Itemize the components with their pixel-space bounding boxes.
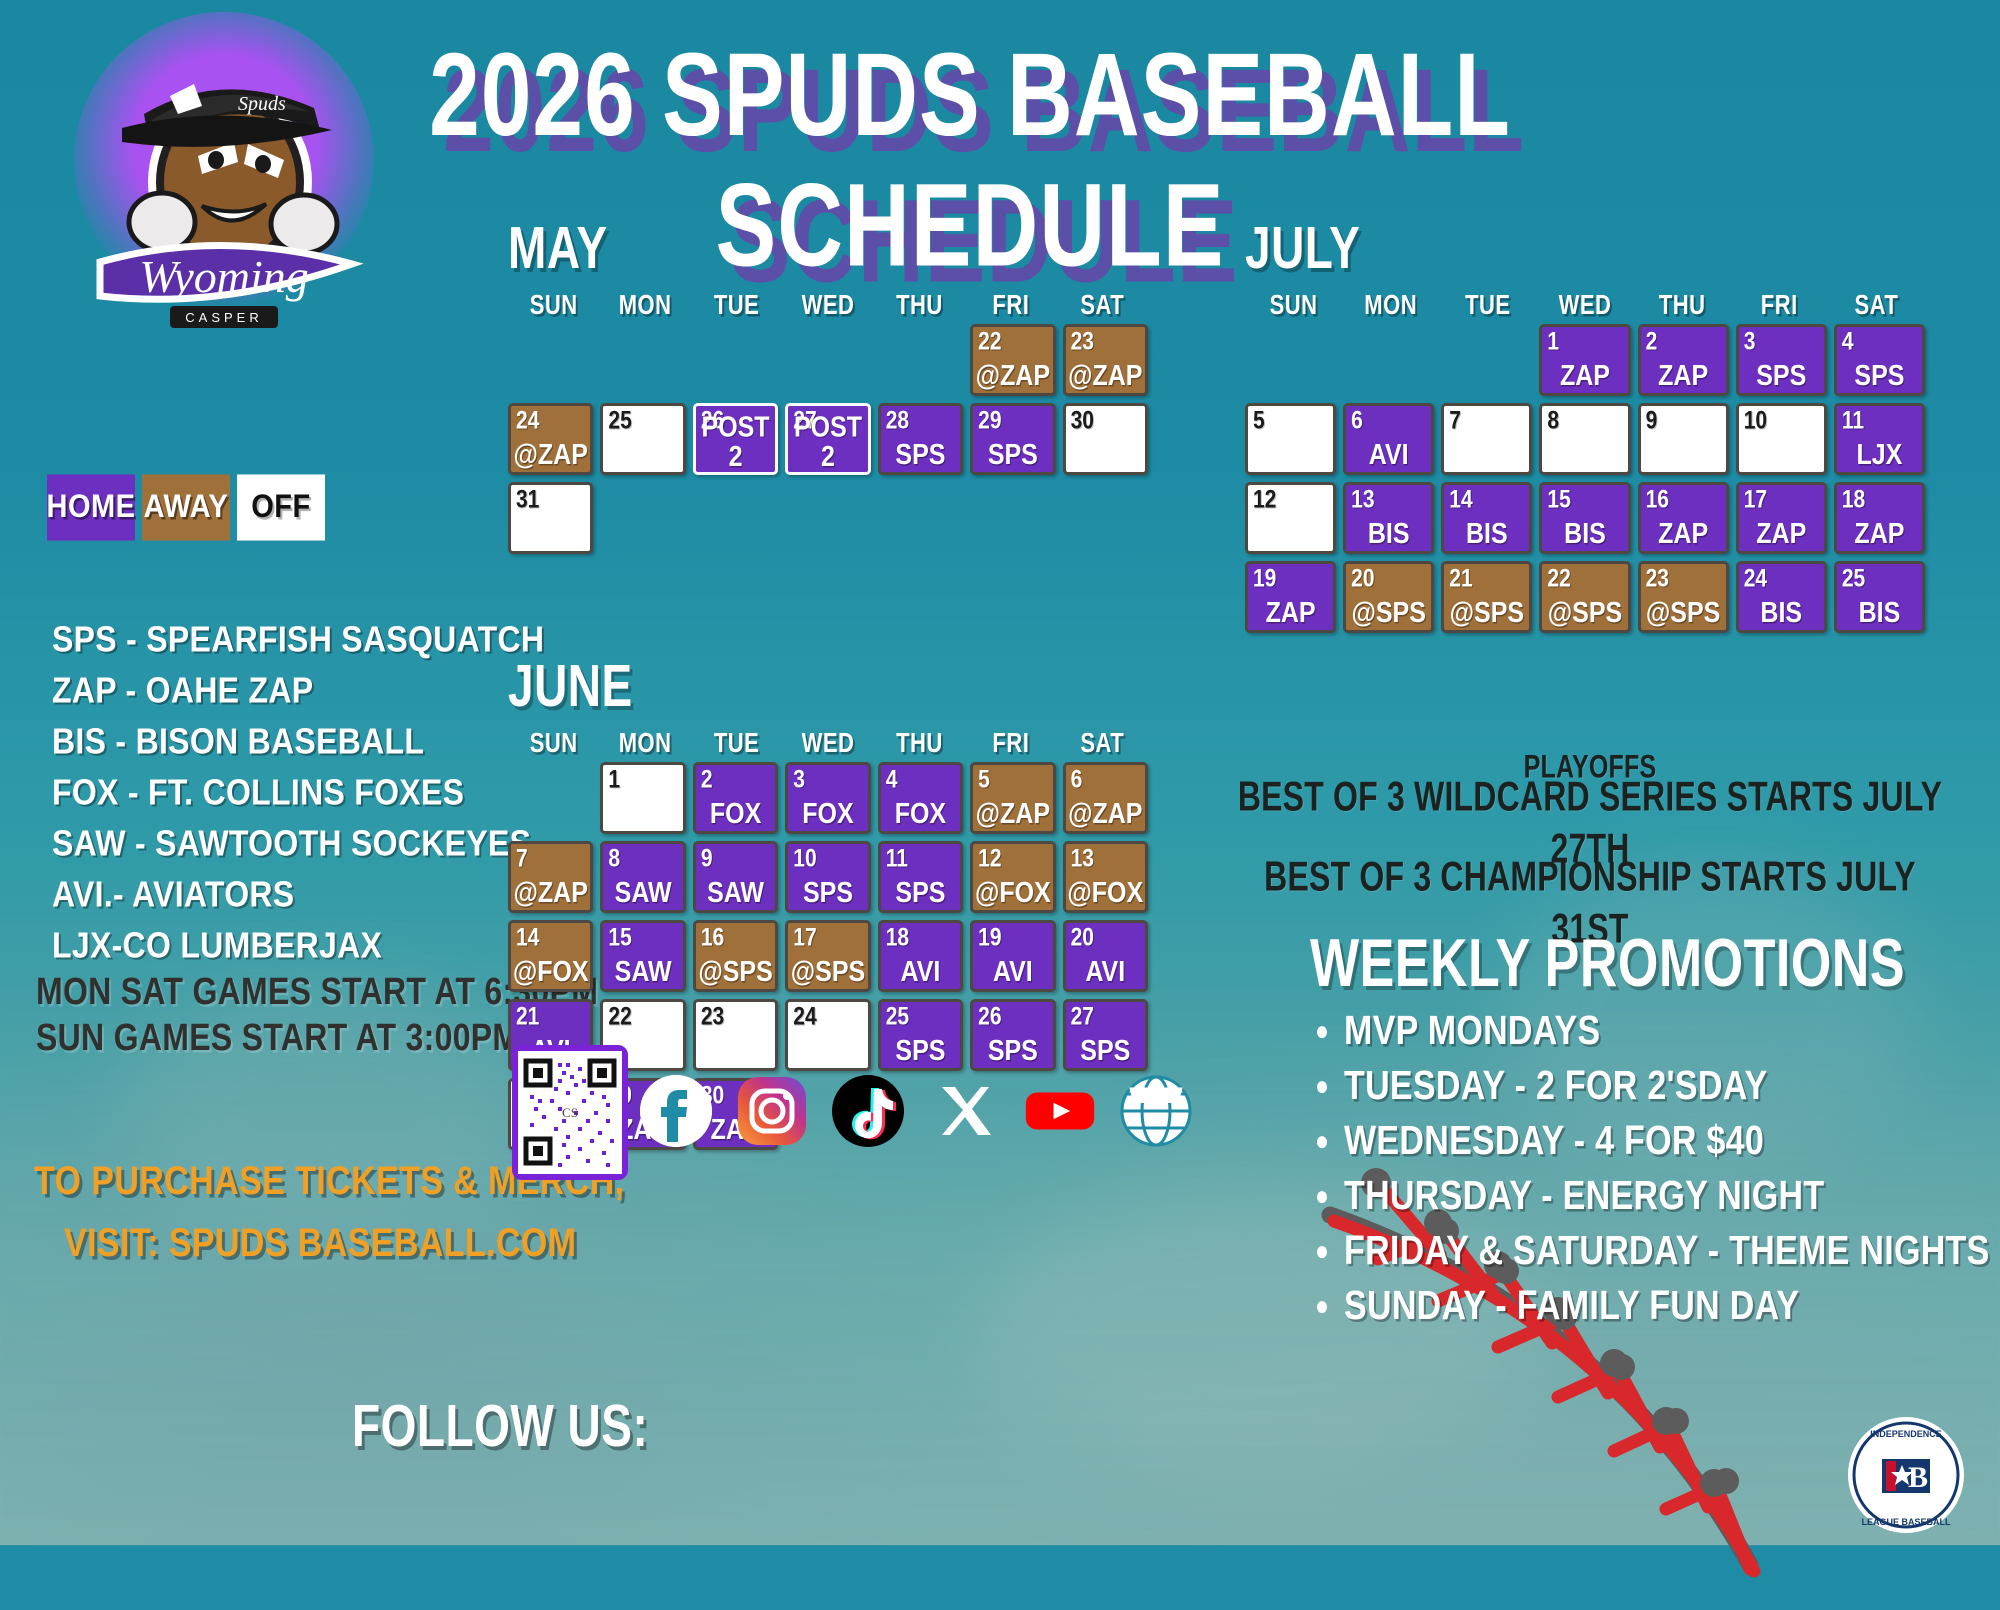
opponent-label: SPS [788, 878, 867, 908]
opponent-label: @SPS [1542, 598, 1627, 628]
calendar-day-cell[interactable]: 18AVI [878, 920, 963, 992]
day-number: 6 [1071, 767, 1083, 793]
svg-text:WWW: WWW [1132, 1086, 1181, 1105]
calendar-week-row: 31 [508, 482, 1148, 554]
independence-league-badge: INDEPENDENCE LEAGUE BASEBALL B [1846, 1415, 1966, 1535]
opponent-label: BIS [1346, 519, 1431, 549]
dow-tue: TUE [691, 727, 782, 760]
abbr-item: ZAP - OAHE ZAP [52, 662, 482, 719]
legend-key-home: HOME [47, 474, 135, 540]
dow-fri: FRI [1731, 289, 1828, 322]
calendar-day-cell[interactable]: 2ZAP [1638, 324, 1729, 396]
dow-sat: SAT [1057, 727, 1148, 760]
opponent-label: POST 2 [696, 412, 775, 472]
calendar-day-cell[interactable]: 14@FOX [508, 920, 593, 992]
calendar-week-row: 19ZAP20@SPS21@SPS22@SPS23@SPS24BIS25BIS [1245, 561, 1925, 633]
opponent-label: BIS [1739, 598, 1824, 628]
legend-keys: HOME AWAY OFF [47, 478, 325, 537]
calendar-cell-empty [785, 324, 870, 396]
calendar-day-cell[interactable]: 6@ZAP [1063, 762, 1148, 834]
day-number: 2 [1646, 329, 1658, 355]
calendar-cell-empty [878, 482, 963, 554]
opponent-label: @FOX [1066, 878, 1145, 908]
opponent-label: SPS [1739, 361, 1824, 391]
dow-fri: FRI [965, 289, 1056, 322]
promotion-item: MVP MONDAYS [1344, 1007, 1950, 1056]
day-number: 23 [1071, 329, 1094, 355]
day-number: 12 [978, 846, 1001, 872]
opponent-label: @FOX [973, 878, 1052, 908]
tiktok-icon[interactable] [832, 1075, 904, 1147]
calendar-day-cell[interactable]: 9 [1638, 403, 1729, 475]
calendar-day-cell[interactable]: 22@SPS [1539, 561, 1630, 633]
day-number: 17 [793, 925, 816, 951]
opponent-label: @SPS [1346, 598, 1431, 628]
svg-text:B: B [1908, 1461, 1928, 1494]
weekly-promotions: WEEKLY PROMOTIONS MVP MONDAYS TUESDAY - … [1310, 925, 1950, 1341]
day-number: 3 [793, 767, 805, 793]
team-abbreviation-list: SPS - SPEARFISH SASQUATCH ZAP - OAHE ZAP… [52, 614, 482, 971]
calendar-cell-empty [693, 482, 778, 554]
opponent-label: @ZAP [973, 799, 1052, 829]
day-number: 10 [793, 846, 816, 872]
day-number: 25 [886, 1004, 909, 1030]
ticket-info-line2[interactable]: VISIT: SPUDS BASEBALL.COM [34, 1206, 534, 1279]
day-number: 25 [1842, 566, 1865, 592]
day-number: 21 [1449, 566, 1472, 592]
promotion-item: FRIDAY & SATURDAY - THEME NIGHTS [1344, 1227, 1950, 1276]
svg-text:LEAGUE BASEBALL: LEAGUE BASEBALL [1861, 1517, 1951, 1527]
calendar-day-cell[interactable]: 3SPS [1736, 324, 1827, 396]
opponent-label: @SPS [1444, 598, 1529, 628]
day-number: 4 [1842, 329, 1854, 355]
calendar-cell-empty [1441, 324, 1532, 396]
calendar-day-cell[interactable]: 23@ZAP [1063, 324, 1148, 396]
opponent-label: ZAP [1837, 519, 1922, 549]
day-number: 25 [608, 408, 631, 434]
page-title: 2026 SPUDS BASEBALL SCHEDULE 2026 SPUDS … [420, 30, 1520, 140]
ticket-info: TO PURCHASE TICKETS & MERCH, VISIT: SPUD… [34, 1150, 534, 1274]
calendar-day-cell[interactable]: 12@FOX [970, 841, 1055, 913]
day-number: 10 [1744, 408, 1767, 434]
day-number: 24 [793, 1004, 816, 1030]
opponent-label: SPS [881, 878, 960, 908]
opponent-label: BIS [1837, 598, 1922, 628]
dow-mon: MON [1342, 289, 1439, 322]
opponent-label: @SPS [696, 957, 775, 987]
day-number: 20 [1351, 566, 1374, 592]
calendar-week-row: 22@ZAP23@ZAP [508, 324, 1148, 396]
day-number: 22 [978, 329, 1001, 355]
dow-sat: SAT [1828, 289, 1925, 322]
dow-wed: WED [782, 727, 873, 760]
opponent-label: SPS [881, 1036, 960, 1066]
dow-mon: MON [599, 289, 690, 322]
legend-key-off: OFF [237, 474, 325, 540]
day-number: 1 [608, 767, 620, 793]
opponent-label: SPS [973, 1036, 1052, 1066]
dow-fri: FRI [965, 727, 1056, 760]
opponent-label: POST 2 [788, 412, 867, 472]
day-number: 23 [701, 1004, 724, 1030]
calendar-day-cell[interactable]: 24BIS [1736, 561, 1827, 633]
day-number: 22 [1547, 566, 1570, 592]
calendar-day-cell[interactable]: 24@ZAP [508, 403, 593, 475]
opponent-label: SPS [881, 440, 960, 470]
calendar-day-cell[interactable]: 21@SPS [1441, 561, 1532, 633]
dow-thu: THU [1634, 289, 1731, 322]
dow-tue: TUE [1439, 289, 1536, 322]
dow-sat: SAT [1057, 289, 1148, 322]
day-number: 19 [978, 925, 1001, 951]
opponent-label: ZAP [1641, 361, 1726, 391]
svg-text:CASPER: CASPER [185, 310, 262, 325]
facebook-icon[interactable] [640, 1075, 712, 1147]
day-number: 21 [516, 1004, 539, 1030]
calendar-day-cell[interactable]: 13BIS [1343, 482, 1434, 554]
calendar-day-cell[interactable]: 9SAW [693, 841, 778, 913]
opponent-label: AVI [973, 957, 1052, 987]
calendar-week-row: 1ZAP2ZAP3SPS4SPS [1245, 324, 1925, 396]
opponent-label: SPS [1066, 1036, 1145, 1066]
dow-mon: MON [599, 727, 690, 760]
day-number: 1 [1547, 329, 1559, 355]
promotion-item: SUNDAY - FAMILY FUN DAY [1344, 1282, 1950, 1331]
calendar-day-cell[interactable]: 8SAW [600, 841, 685, 913]
opponent-label: FOX [696, 799, 775, 829]
opponent-label: @SPS [1641, 598, 1726, 628]
calendar-day-cell[interactable]: 20@SPS [1343, 561, 1434, 633]
calendar-title-may: MAY [508, 212, 1148, 282]
day-number: 18 [1842, 487, 1865, 513]
game-times: MON SAT GAMES START AT 6:30PM SUN GAMES … [36, 968, 506, 1060]
calendar-day-cell[interactable]: 16@SPS [693, 920, 778, 992]
opponent-label: SAW [696, 878, 775, 908]
day-number: 8 [1547, 408, 1559, 434]
day-number: 5 [1253, 408, 1265, 434]
calendar-july: JULYSUNMONTUEWEDTHUFRISAT1ZAP2ZAP3SPS4SP… [1245, 212, 1925, 640]
day-number: 2 [701, 767, 713, 793]
day-number: 13 [1351, 487, 1374, 513]
calendar-title-june: JUNE [508, 650, 1148, 720]
day-number: 28 [886, 408, 909, 434]
calendar-day-cell[interactable]: 22@ZAP [970, 324, 1055, 396]
x-twitter-icon[interactable] [928, 1075, 1000, 1147]
day-number: 11 [1842, 408, 1864, 434]
day-number: 4 [886, 767, 898, 793]
social-links: WWW WWW [640, 1075, 1192, 1147]
calendar-day-cell[interactable]: 11LJX [1834, 403, 1925, 475]
day-number: 5 [978, 767, 990, 793]
day-number: 27 [1071, 1004, 1094, 1030]
abbr-item: BIS - BISON BASEBALL [52, 713, 482, 770]
opponent-label: SPS [973, 440, 1052, 470]
day-number: 23 [1646, 566, 1669, 592]
abbr-item: FOX - FT. COLLINS FOXES [52, 764, 482, 821]
calendar-cell-empty [785, 482, 870, 554]
opponent-label: @SPS [788, 957, 867, 987]
calendar-day-cell[interactable]: 23@SPS [1638, 561, 1729, 633]
calendar-day-cell[interactable]: 25SPS [878, 999, 963, 1071]
day-number: 14 [1449, 487, 1472, 513]
day-number: 30 [1071, 408, 1094, 434]
follow-us-label: FOLLOW US: [352, 1390, 648, 1460]
legend-key-away: AWAY [142, 474, 230, 540]
qr-code[interactable]: CS [512, 1045, 628, 1180]
calendar-cell-empty [1343, 324, 1434, 396]
opponent-label: SAW [603, 878, 682, 908]
calendar-day-cell[interactable]: 11SPS [878, 841, 963, 913]
day-number: 7 [1449, 408, 1461, 434]
day-number: 7 [516, 846, 528, 872]
day-of-week-header: SUNMONTUEWEDTHUFRISAT [1245, 292, 1925, 318]
calendar-cell-empty [1245, 324, 1336, 396]
dow-wed: WED [1536, 289, 1633, 322]
calendar-day-cell[interactable]: 1 [600, 762, 685, 834]
calendar-week-row: 14@FOX15SAW16@SPS17@SPS18AVI19AVI20AVI [508, 920, 1148, 992]
promotion-item: WEDNESDAY - 4 FOR $40 [1344, 1117, 1950, 1166]
day-number: 26 [978, 1004, 1001, 1030]
day-number: 9 [701, 846, 713, 872]
opponent-label: FOX [881, 799, 960, 829]
dow-tue: TUE [691, 289, 782, 322]
calendar-week-row: 56AVI7891011LJX [1245, 403, 1925, 475]
opponent-label: @ZAP [973, 361, 1052, 391]
day-number: 8 [608, 846, 620, 872]
calendar-day-cell[interactable]: 27POST 2 [785, 403, 870, 475]
calendar-day-cell[interactable]: 23 [693, 999, 778, 1071]
calendar-title-july: JULY [1245, 212, 1925, 282]
day-of-week-header: SUNMONTUEWEDTHUFRISAT [508, 292, 1148, 318]
calendar-day-cell[interactable]: 19ZAP [1245, 561, 1336, 633]
day-number: 22 [608, 1004, 631, 1030]
svg-text:Spuds: Spuds [238, 93, 286, 115]
day-number: 16 [1646, 487, 1669, 513]
calendar-day-cell[interactable]: 7 [1441, 403, 1532, 475]
day-number: 3 [1744, 329, 1756, 355]
abbr-item: SPS - SPEARFISH SASQUATCH [52, 611, 482, 668]
dow-sun: SUN [1245, 289, 1342, 322]
opponent-label: @ZAP [1066, 361, 1145, 391]
day-number: 20 [1071, 925, 1094, 951]
calendar-may: MAYSUNMONTUEWEDTHUFRISAT22@ZAP23@ZAP24@Z… [508, 212, 1148, 561]
team-logo: Spuds Wyoming CASPER [52, 10, 392, 355]
opponent-label: ZAP [1641, 519, 1726, 549]
calendar-cell-empty [693, 324, 778, 396]
opponent-label: AVI [1066, 957, 1145, 987]
calendar-day-cell[interactable]: 3FOX [785, 762, 870, 834]
opponent-label: ZAP [1542, 361, 1627, 391]
day-number: 15 [1547, 487, 1570, 513]
calendar-day-cell[interactable]: 31 [508, 482, 593, 554]
calendar-cell-empty [878, 324, 963, 396]
calendar-day-cell[interactable]: 25 [600, 403, 685, 475]
svg-text:INDEPENDENCE: INDEPENDENCE [1870, 1429, 1942, 1439]
calendar-day-cell[interactable]: 26SPS [970, 999, 1055, 1071]
calendar-day-cell[interactable]: 10SPS [785, 841, 870, 913]
day-number: 6 [1351, 408, 1363, 434]
day-number: 19 [1253, 566, 1276, 592]
svg-text:CS: CS [562, 1105, 578, 1120]
opponent-label: ZAP [1248, 598, 1333, 628]
svg-text:Wyoming: Wyoming [139, 251, 309, 302]
calendar-day-cell[interactable]: 1ZAP [1539, 324, 1630, 396]
calendar-day-cell[interactable]: 15BIS [1539, 482, 1630, 554]
calendar-day-cell[interactable]: 8 [1539, 403, 1630, 475]
calendar-cell-empty [600, 482, 685, 554]
opponent-label: BIS [1444, 519, 1529, 549]
opponent-label: AVI [881, 957, 960, 987]
calendar-day-cell[interactable]: 17@SPS [785, 920, 870, 992]
calendar-day-cell[interactable]: 12 [1245, 482, 1336, 554]
calendar-day-cell[interactable]: 5@ZAP [970, 762, 1055, 834]
calendar-day-cell[interactable]: 10 [1736, 403, 1827, 475]
calendar-day-cell[interactable]: 6AVI [1343, 403, 1434, 475]
promotion-item: TUESDAY - 2 FOR 2'SDAY [1344, 1062, 1950, 1111]
calendar-day-cell[interactable]: 26POST 2 [693, 403, 778, 475]
abbr-item: SAW - SAWTOOTH SOCKEYES [52, 815, 482, 872]
opponent-label: FOX [788, 799, 867, 829]
calendar-day-cell[interactable]: 19AVI [970, 920, 1055, 992]
youtube-icon[interactable] [1024, 1075, 1096, 1147]
day-number: 17 [1744, 487, 1767, 513]
opponent-label: @ZAP [511, 440, 590, 470]
calendar-week-row: 24@ZAP2526POST 227POST 228SPS29SPS30 [508, 403, 1148, 475]
calendar-day-cell[interactable]: 7@ZAP [508, 841, 593, 913]
day-number: 29 [978, 408, 1001, 434]
dow-wed: WED [782, 289, 873, 322]
calendar-day-cell[interactable]: 29SPS [970, 403, 1055, 475]
day-number: 13 [1071, 846, 1094, 872]
calendar-day-cell[interactable]: 30 [1063, 403, 1148, 475]
calendar-day-cell[interactable]: 25BIS [1834, 561, 1925, 633]
day-number: 12 [1253, 487, 1276, 513]
dow-thu: THU [874, 289, 965, 322]
calendar-day-cell[interactable]: 14BIS [1441, 482, 1532, 554]
dow-sun: SUN [508, 727, 599, 760]
calendar-day-cell[interactable]: 5 [1245, 403, 1336, 475]
calendar-week-row: 1213BIS14BIS15BIS16ZAP17ZAP18ZAP [1245, 482, 1925, 554]
calendar-cell-empty [508, 762, 593, 834]
calendar-cell-empty [1063, 482, 1148, 554]
calendar-day-cell[interactable]: 27SPS [1063, 999, 1148, 1071]
promotions-title: WEEKLY PROMOTIONS [1310, 925, 1950, 1003]
calendar-day-cell[interactable]: 15SAW [600, 920, 685, 992]
playoffs-info: PLAYOFFS BEST OF 3 WILDCARD SERIES START… [1230, 752, 1950, 942]
opponent-label: LJX [1837, 440, 1922, 470]
calendar-day-cell[interactable]: 4FOX [878, 762, 963, 834]
promotion-item: THURSDAY - ENERGY NIGHT [1344, 1172, 1950, 1221]
day-number: 18 [886, 925, 909, 951]
opponent-label: @ZAP [1066, 799, 1145, 829]
day-number: 11 [886, 846, 908, 872]
calendar-day-cell[interactable]: 28SPS [878, 403, 963, 475]
calendar-week-row: 12FOX3FOX4FOX5@ZAP6@ZAP [508, 762, 1148, 834]
calendar-day-cell[interactable]: 20AVI [1063, 920, 1148, 992]
day-number: 24 [516, 408, 539, 434]
day-number: 31 [516, 487, 539, 513]
abbr-item: AVI.- AVIATORS [52, 866, 482, 923]
calendar-day-cell[interactable]: 4SPS [1834, 324, 1925, 396]
opponent-label: @FOX [511, 957, 590, 987]
opponent-label: BIS [1542, 519, 1627, 549]
calendar-day-cell[interactable]: 17ZAP [1736, 482, 1827, 554]
day-of-week-header: SUNMONTUEWEDTHUFRISAT [508, 730, 1148, 756]
opponent-label: SPS [1837, 361, 1922, 391]
promotions-list: MVP MONDAYS TUESDAY - 2 FOR 2'SDAY WEDNE… [1344, 1011, 1950, 1327]
instagram-icon[interactable] [736, 1075, 808, 1147]
opponent-label: SAW [603, 957, 682, 987]
calendar-cell-empty [970, 482, 1055, 554]
dow-sun: SUN [508, 289, 599, 322]
opponent-label: AVI [1346, 440, 1431, 470]
opponent-label: ZAP [1739, 519, 1824, 549]
calendar-day-cell[interactable]: 2FOX [693, 762, 778, 834]
website-www-icon[interactable]: WWW WWW [1120, 1075, 1192, 1147]
day-number: 9 [1646, 408, 1658, 434]
calendar-day-cell[interactable]: 16ZAP [1638, 482, 1729, 554]
dow-thu: THU [874, 727, 965, 760]
calendar-cell-empty [600, 324, 685, 396]
day-number: 16 [701, 925, 724, 951]
calendar-cell-empty [508, 324, 593, 396]
day-number: 15 [608, 925, 631, 951]
day-number: 14 [516, 925, 539, 951]
calendar-week-row: 7@ZAP8SAW9SAW10SPS11SPS12@FOX13@FOX [508, 841, 1148, 913]
game-time-sunday: SUN GAMES START AT 3:00PM [36, 1009, 506, 1064]
calendar-day-cell[interactable]: 18ZAP [1834, 482, 1925, 554]
calendar-day-cell[interactable]: 13@FOX [1063, 841, 1148, 913]
calendar-day-cell[interactable]: 24 [785, 999, 870, 1071]
day-number: 24 [1744, 566, 1767, 592]
opponent-label: @ZAP [511, 878, 590, 908]
